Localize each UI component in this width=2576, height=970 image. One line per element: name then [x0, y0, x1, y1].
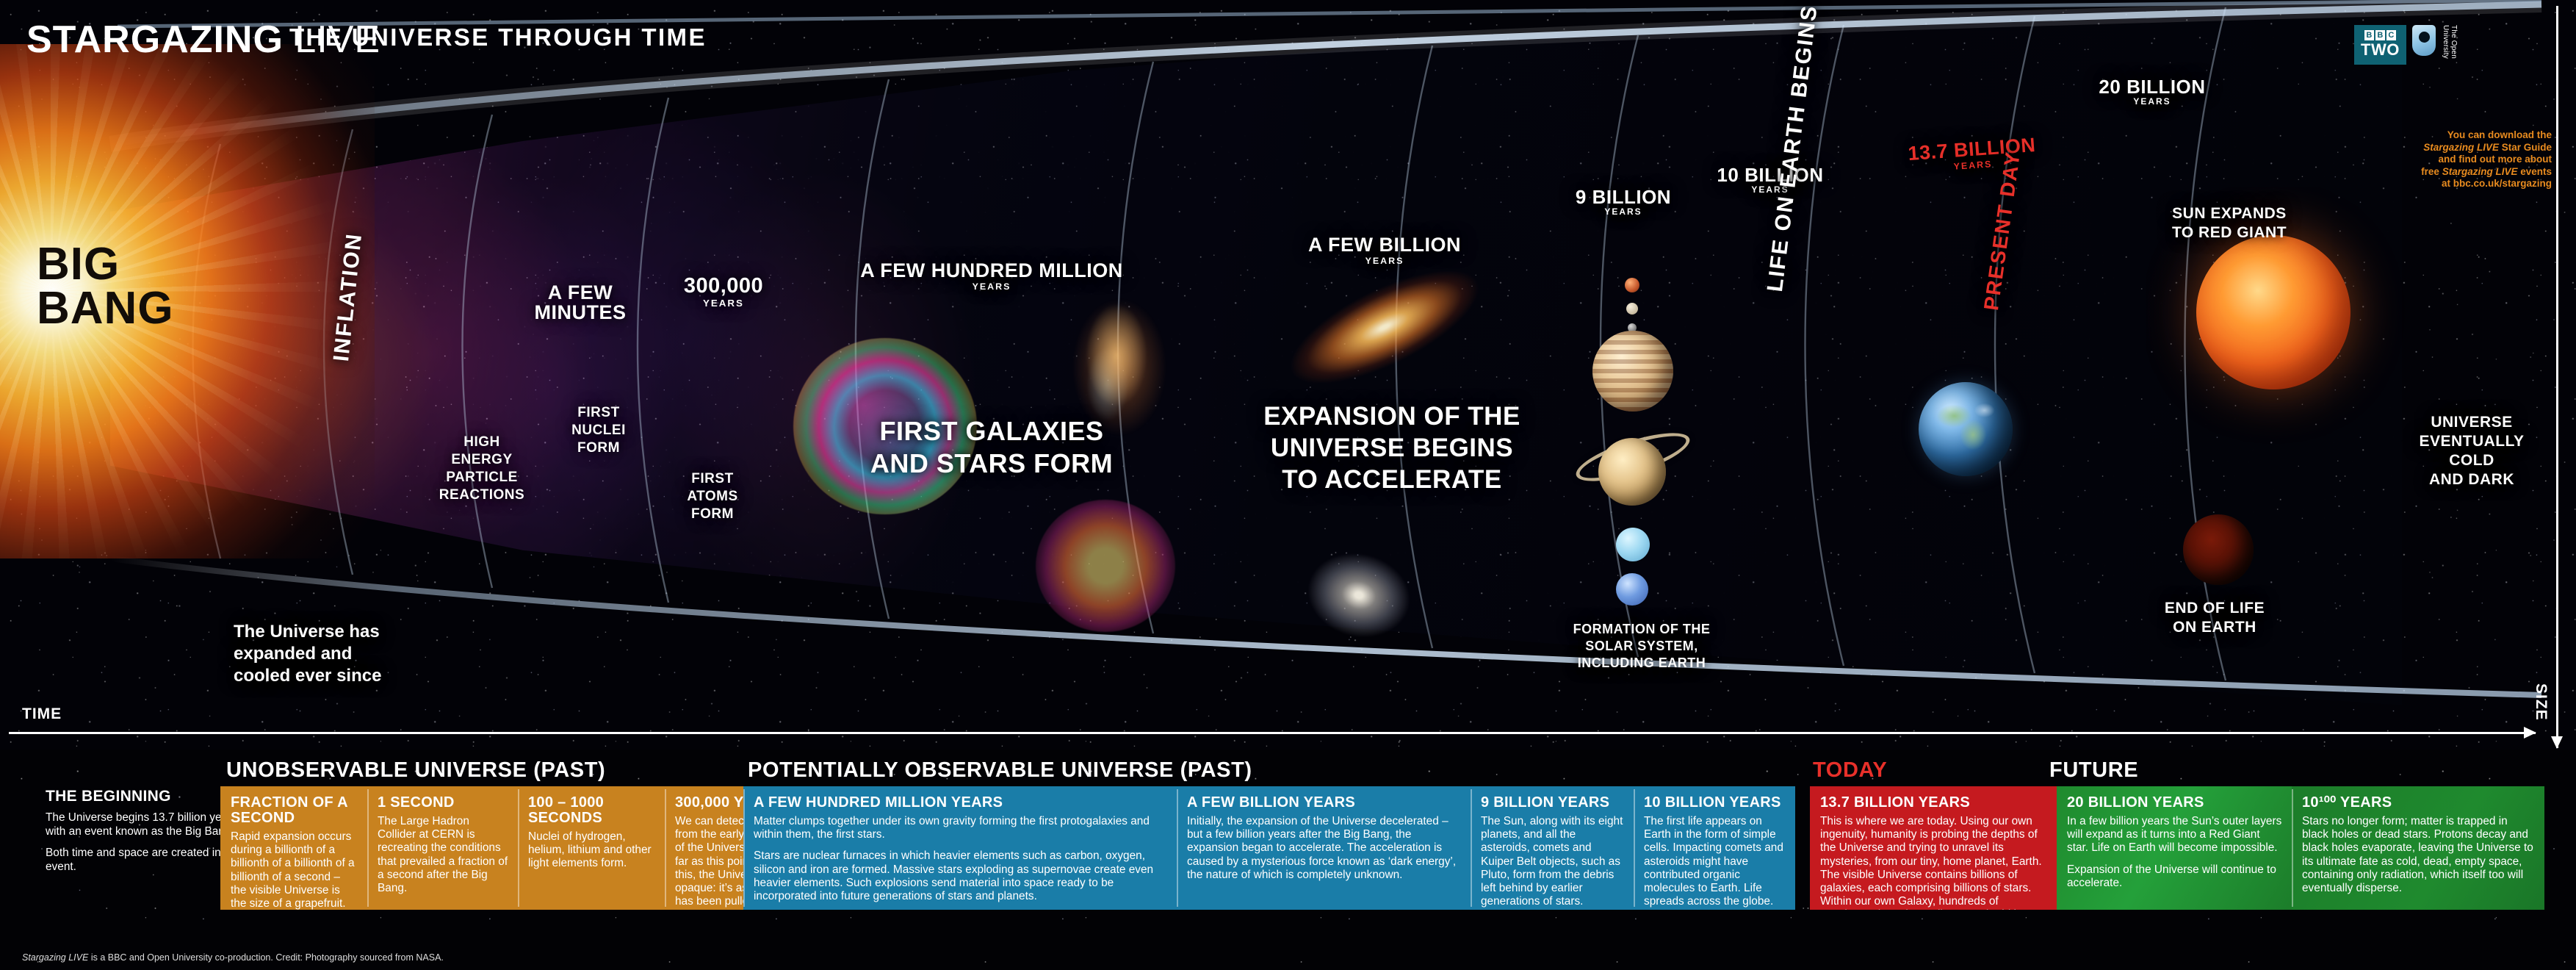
card-title: 20 BILLION YEARS: [2067, 795, 2282, 811]
card-title: 10 BILLION YEARS: [1644, 795, 1786, 811]
planet-mars: [1625, 278, 1639, 292]
card-body: Rapid expansion occurs during a billiont…: [231, 830, 358, 910]
card-title: 100 – 1000 SECONDS: [528, 795, 655, 826]
label-expansion-begins-to-accelerate: EXPANSION OF THE UNIVERSE BEGINS TO ACCE…: [1241, 400, 1543, 495]
marker-unit: YEARS: [2071, 98, 2233, 107]
card-20-billion-years[interactable]: 20 BILLION YEARS In a few billion years …: [2057, 786, 2292, 910]
label-high-energy-particle-reactions: HIGH ENERGY PARTICLE REACTIONS: [423, 434, 541, 504]
marker-line1: A FEW: [548, 281, 613, 303]
card-title: 9 BILLION YEARS: [1481, 795, 1624, 811]
marker-a-few-hundred-million: A FEW HUNDRED MILLION YEARS: [837, 261, 1146, 291]
label-first-galaxies-and-stars-form: FIRST GALAXIES AND STARS FORM: [837, 415, 1146, 480]
marker-value: 300,000: [684, 274, 763, 298]
planet-jupiter-bands: [1592, 331, 1673, 412]
marker-a-few-billion: A FEW BILLION YEARS: [1278, 235, 1491, 265]
page-subtitle: THE UNIVERSE THROUGH TIME: [289, 24, 707, 51]
era-header-row: UNOBSERVABLE UNIVERSE (PAST) POTENTIALLY…: [0, 758, 2576, 788]
promo-text[interactable]: You can download the Stargazing LIVE Sta…: [2334, 129, 2552, 190]
label-first-nuclei-form: FIRST NUCLEI FORM: [547, 404, 650, 457]
card-body: The Sun, along with its eight planets, a…: [1481, 815, 1624, 908]
marker-value: 10 BILLION: [1717, 164, 1823, 186]
era-header-unobservable: UNOBSERVABLE UNIVERSE (PAST): [226, 758, 605, 783]
card-divider: [1634, 789, 1635, 907]
size-axis-line: [2556, 6, 2558, 748]
universe-expansion-cone: [110, 0, 2402, 705]
bbc-letter-b1: B: [2364, 30, 2374, 40]
cone-rings: [110, 0, 2402, 705]
marker-9-billion: 9 BILLION YEARS: [1546, 187, 1700, 217]
card-divider: [518, 789, 519, 907]
marker-value: A FEW BILLION: [1308, 234, 1461, 256]
label-sun-expands-to-red-giant: SUN EXPANDS TO RED GIANT: [2137, 204, 2321, 242]
scorched-earth: [2183, 514, 2254, 585]
bbc-two-logo: B B C TWO: [2354, 25, 2406, 65]
card-fraction-of-a-second[interactable]: FRACTION OF A SECOND Rapid expansion occ…: [220, 786, 367, 910]
open-university-label: The Open University: [2442, 25, 2458, 59]
planet-neptune: [1616, 573, 1648, 606]
label-expanded-and-cooled: The Universe has expanded and cooled eve…: [234, 621, 476, 687]
card-100-1000-seconds[interactable]: 100 – 1000 SECONDS Nuclei of hydrogen, h…: [518, 786, 665, 910]
card-body: The first life appears on Earth in the f…: [1644, 815, 1786, 908]
card-title: FRACTION OF A SECOND: [231, 795, 358, 826]
marker-unit: YEARS: [1689, 186, 1851, 195]
marker-value: 9 BILLION: [1576, 186, 1671, 208]
time-axis-label: TIME: [22, 705, 62, 723]
label-end-of-life-on-earth: END OF LIFE ON EARTH: [2130, 599, 2299, 637]
logo-group: B B C TWO The Open University: [2354, 25, 2458, 65]
card-title: 10¹⁰⁰ YEARS: [2302, 795, 2535, 811]
marker-10-billion: 10 BILLION YEARS: [1689, 165, 1851, 195]
marker-value: 20 BILLION: [2099, 76, 2205, 98]
era-header-today: TODAY: [1813, 758, 1887, 783]
marker-unit: YEARS: [1546, 208, 1700, 217]
planet-saturn: [1598, 438, 1666, 506]
era-header-future: FUTURE: [2049, 758, 2138, 783]
promo-line-1: You can download the: [2334, 129, 2552, 142]
card-divider: [665, 789, 666, 907]
credit-rest: is a BBC and Open University co-producti…: [88, 952, 444, 963]
size-axis-label: SIZE: [2532, 683, 2550, 721]
card-title: A FEW BILLION YEARS: [1187, 795, 1461, 811]
big-bang-label: BIG BANG: [37, 242, 242, 330]
marker-line2: MINUTES: [535, 301, 627, 323]
card-title: 13.7 BILLION YEARS: [1820, 795, 2047, 811]
timeline-detail-panel: UNOBSERVABLE UNIVERSE (PAST) POTENTIALLY…: [0, 750, 2576, 970]
planet-venus: [1626, 303, 1638, 315]
promo-url[interactable]: at bbc.co.uk/stargazing: [2334, 178, 2552, 190]
card-divider: [2292, 789, 2293, 907]
card-title: A FEW HUNDRED MILLION YEARS: [754, 795, 1167, 811]
card-body: Nuclei of hydrogen, helium, lithium and …: [528, 830, 655, 871]
bbc-letter-b2: B: [2375, 30, 2385, 40]
bbc-letter-c: C: [2386, 30, 2396, 40]
card-a-few-hundred-million-years[interactable]: A FEW HUNDRED MILLION YEARS Matter clump…: [743, 786, 1177, 910]
card-a-few-billion-years[interactable]: A FEW BILLION YEARS Initially, the expan…: [1177, 786, 1471, 910]
bbc-letter-tiles: B B C: [2361, 30, 2400, 40]
card-13-7-billion-years[interactable]: 13.7 BILLION YEARS This is where we are …: [1810, 786, 2057, 910]
planet-uranus: [1616, 528, 1650, 561]
time-axis-line: [9, 732, 2536, 734]
bbc-channel-label: TWO: [2361, 42, 2400, 58]
supernova-remnant-orange: [1036, 500, 1175, 632]
card-body: The Large Hadron Collider at CERN is rec…: [378, 815, 508, 895]
card-10-to-the-100-years[interactable]: 10¹⁰⁰ YEARS Stars no longer form; matter…: [2292, 786, 2544, 910]
label-formation-of-solar-system: FORMATION OF THE SOLAR SYSTEM, INCLUDING…: [1550, 621, 1733, 672]
credit-italic: Stargazing LIVE: [22, 952, 88, 963]
marker-unit: YEARS: [1278, 256, 1491, 265]
marker-300000-years: 300,000 YEARS: [639, 276, 808, 308]
promo-line-2: Stargazing LIVE Star Guide: [2334, 142, 2552, 154]
card-body: This is where we are today. Using our ow…: [1820, 815, 2047, 910]
open-university-shield-icon: [2412, 25, 2436, 56]
card-divider: [743, 789, 745, 907]
card-title: 1 SECOND: [378, 795, 508, 811]
label-first-atoms-form: FIRST ATOMS FORM: [661, 470, 764, 523]
card-divider: [367, 789, 369, 907]
marker-unit: YEARS: [837, 282, 1146, 291]
planet-earth-continents: [1919, 382, 2013, 476]
promo-line-3: and find out more about: [2334, 154, 2552, 166]
card-divider: [1471, 789, 1472, 907]
timeline-card-row: FRACTION OF A SECOND Rapid expansion occ…: [0, 786, 2576, 910]
marker-value: A FEW HUNDRED MILLION: [860, 259, 1122, 281]
red-giant-sun: [2196, 235, 2350, 389]
card-1-second[interactable]: 1 SECOND The Large Hadron Collider at CE…: [367, 786, 518, 910]
brand-stargazing: STARGAZING: [26, 18, 284, 61]
card-body-2: Expansion of the Universe will continue …: [2067, 863, 2282, 890]
card-body: In a few billion years the Sun’s outer l…: [2067, 815, 2282, 855]
card-10-billion-years[interactable]: 10 BILLION YEARS The first life appears …: [1634, 786, 1795, 910]
credit-line: Stargazing LIVE is a BBC and Open Univer…: [22, 952, 444, 963]
card-9-billion-years[interactable]: 9 BILLION YEARS The Sun, along with its …: [1471, 786, 1634, 910]
label-universe-cold-and-dark: UNIVERSE EVENTUALLY COLD AND DARK: [2387, 413, 2556, 489]
card-body-2: Stars are nuclear furnaces in which heav…: [754, 849, 1167, 903]
marker-a-few-minutes: A FEW MINUTES: [514, 283, 646, 323]
card-body: Matter clumps together under its own gra…: [754, 815, 1167, 841]
marker-20-billion: 20 BILLION YEARS: [2071, 77, 2233, 107]
card-body: Initially, the expansion of the Universe…: [1187, 815, 1461, 882]
marker-unit: YEARS: [639, 298, 808, 308]
promo-line-4: free Stargazing LIVE events: [2334, 166, 2552, 179]
card-body: Stars no longer form; matter is trapped …: [2302, 815, 2535, 895]
card-divider: [1177, 789, 1178, 907]
era-header-observable: POTENTIALLY OBSERVABLE UNIVERSE (PAST): [748, 758, 1252, 783]
